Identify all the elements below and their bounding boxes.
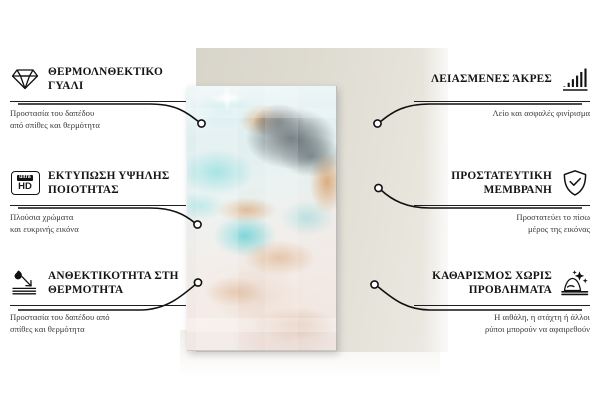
feature-block-heat-resistant-glass[interactable]: ΘΕΡΜΟΛΝΘΕΚΤΙΚΟ ΓΥΑΛΙ Προστασία του δαπέδ… <box>10 62 186 131</box>
feature-block-protective-membrane[interactable]: ΠΡΟΣΤΑΤΕΥΤΙΚΗ ΜΕΜΒΡΑΝΗ Προστατεύει το πί… <box>414 166 590 235</box>
feature-divider <box>414 101 590 102</box>
feature-header: ΚΑΘΑΡΙΣΜΟΣ ΧΩΡΙΣ ΠΡΟΒΛΗΜΑΤΑ <box>414 266 590 300</box>
feature-description: Λείο και ασφαλές φινίρισμα <box>414 107 590 119</box>
feature-divider <box>414 205 590 206</box>
glass-edge-outline <box>187 86 337 351</box>
feature-title: ΑΝΘΕΚΤΙΚΟΤΗΤΑ ΣΤΗ ΘΕΡΜΟΤΗΤΑ <box>48 269 186 298</box>
feature-title: ΚΑΘΑΡΙΣΜΟΣ ΧΩΡΙΣ ΠΡΟΒΛΗΜΑΤΑ <box>414 269 552 298</box>
feature-divider <box>10 205 186 206</box>
feature-block-polished-edges[interactable]: ΛΕΙΑΣΜΕΝΕΣ ΆΚΡΕΣ Λείο και ασφαλές φινίρι… <box>414 62 590 119</box>
shield-check-icon <box>560 168 590 198</box>
feature-block-high-quality-print[interactable]: ultra HD ΕΚΤΥΠΩΣΗ ΥΨΗΛΗΣ ΠΟΙΟΤΗΤΑΣ Πλούσ… <box>10 166 186 235</box>
feature-divider <box>10 101 186 102</box>
feature-description: Προστασία του δαπέδου από σπίθες και θερ… <box>10 311 186 335</box>
feature-divider <box>10 305 186 306</box>
feature-divider <box>414 305 590 306</box>
diamond-icon <box>10 64 40 94</box>
feature-description: Προστατεύει το πίσω μέρος της εικόνας <box>414 211 590 235</box>
feature-description: Πλούσια χρώματα και ευκρινής εικόνα <box>10 211 186 235</box>
feature-title: ΘΕΡΜΟΛΝΘΕΚΤΙΚΟ ΓΥΑΛΙ <box>48 65 186 94</box>
ultra-hd-icon-main-label: HD <box>18 182 32 192</box>
feature-title: ΛΕΙΑΣΜΕΝΕΣ ΆΚΡΕΣ <box>414 72 552 86</box>
feature-header: ΠΡΟΣΤΑΤΕΥΤΙΚΗ ΜΕΜΒΡΑΝΗ <box>414 166 590 200</box>
ultra-hd-icon-top-label: ultra <box>17 175 33 181</box>
feature-header: ultra HD ΕΚΤΥΠΩΣΗ ΥΨΗΛΗΣ ΠΟΙΟΤΗΤΑΣ <box>10 166 186 200</box>
infographic-stage: ΘΕΡΜΟΛΝΘΕΚΤΙΚΟ ΓΥΑΛΙ Προστασία του δαπέδ… <box>0 0 600 400</box>
feature-block-easy-cleaning[interactable]: ΚΑΘΑΡΙΣΜΟΣ ΧΩΡΙΣ ΠΡΟΒΛΗΜΑΤΑ Η αιθάλη, η … <box>414 266 590 335</box>
easy-clean-icon <box>560 268 590 298</box>
feature-block-heat-resistance[interactable]: ΑΝΘΕΚΤΙΚΟΤΗΤΑ ΣΤΗ ΘΕΡΜΟΤΗΤΑ Προστασία το… <box>10 266 186 335</box>
heat-resistance-icon <box>10 268 40 298</box>
feature-description: Η αιθάλη, η στάχτη ή άλλοι ρύποι μπορούν… <box>414 311 590 335</box>
feature-header: ΛΕΙΑΣΜΕΝΕΣ ΆΚΡΕΣ <box>414 62 590 96</box>
product-glass-board[interactable] <box>187 86 337 351</box>
feature-title: ΠΡΟΣΤΑΤΕΥΤΙΚΗ ΜΕΜΒΡΑΝΗ <box>414 169 552 198</box>
feature-description: Προστασία του δαπέδου από σπίθες και θερ… <box>10 107 186 131</box>
feature-header: ΑΝΘΕΚΤΙΚΟΤΗΤΑ ΣΤΗ ΘΕΡΜΟΤΗΤΑ <box>10 266 186 300</box>
ultra-hd-icon: ultra HD <box>10 168 40 198</box>
feature-title: ΕΚΤΥΠΩΣΗ ΥΨΗΛΗΣ ΠΟΙΟΤΗΤΑΣ <box>48 169 186 198</box>
feature-header: ΘΕΡΜΟΛΝΘΕΚΤΙΚΟ ΓΥΑΛΙ <box>10 62 186 96</box>
polished-edges-icon <box>560 64 590 94</box>
